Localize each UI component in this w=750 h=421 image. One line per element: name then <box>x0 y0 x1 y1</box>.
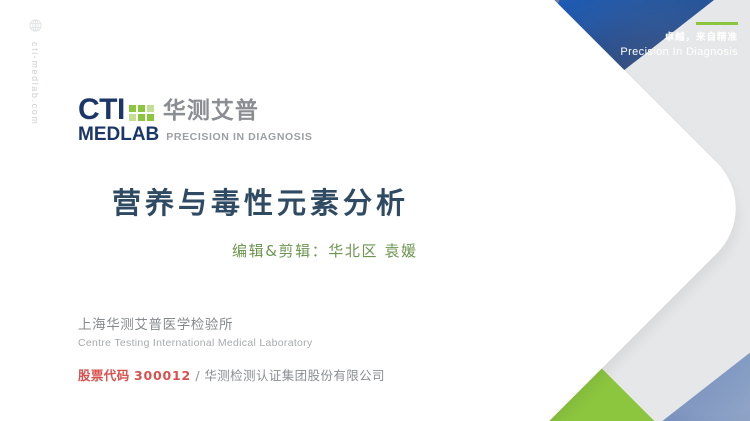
footer-stock-line: 股票代码 300012 / 华测检测认证集团股份有限公司 <box>78 365 385 384</box>
logo-green-squares-icon <box>129 105 154 121</box>
website-url: cti-medlab.com <box>30 42 40 125</box>
logo-tagline: PRECISION IN DIAGNOSIS <box>166 131 312 143</box>
presentation-slide: cti-medlab.com CTI 华测艾普 MEDLAB PRECISION… <box>0 0 750 421</box>
slide-subtitle-credits: 编辑&剪辑：华北区 袁媛 <box>232 240 418 261</box>
stock-separator: / <box>195 368 200 383</box>
logo-cti-mark: CTI <box>78 97 125 123</box>
logo-medlab-text: MEDLAB <box>78 124 159 146</box>
footer-company-en: Centre Testing International Medical Lab… <box>78 335 385 352</box>
globe-icon <box>28 18 43 33</box>
footer-company-cn: 上海华测艾普医学检验所 <box>78 316 385 335</box>
footer-group-cn: 华测检测认证集团股份有限公司 <box>204 368 385 383</box>
slogan-accent-bar <box>696 22 738 25</box>
stock-code: 300012 <box>134 368 191 383</box>
cti-medlab-logo: CTI 华测艾普 MEDLAB PRECISION IN DIAGNOSIS <box>78 97 313 146</box>
stock-label: 股票代码 <box>78 368 130 383</box>
website-rail: cti-medlab.com <box>22 18 48 125</box>
slide-title: 营养与毒性元素分析 <box>112 180 409 222</box>
logo-chinese-name: 华测艾普 <box>163 99 259 123</box>
slogan-english: Precision In Diagnosis <box>620 45 738 60</box>
slogan-chinese: 卓越，来自精准 <box>620 31 738 45</box>
slogan-block: 卓越，来自精准 Precision In Diagnosis <box>620 22 738 60</box>
footer-block: 上海华测艾普医学检验所 Centre Testing International… <box>78 316 385 384</box>
